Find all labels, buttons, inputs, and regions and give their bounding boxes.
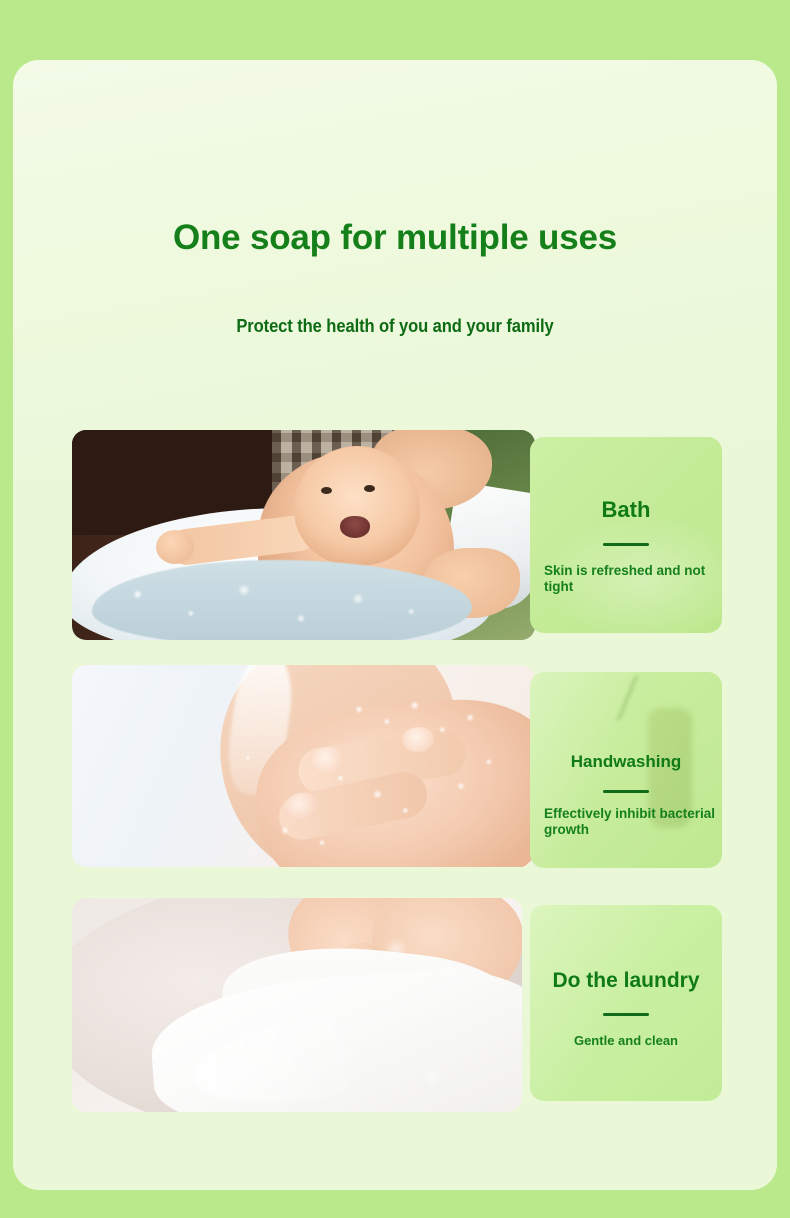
laundry-scene xyxy=(72,898,522,1112)
feature-photo-handwashing xyxy=(72,665,535,867)
baby-head xyxy=(294,446,420,566)
handwashing-scene xyxy=(72,665,535,867)
feature-photo-bath xyxy=(72,430,535,640)
promo-poster: One soap for multiple uses Protect the h… xyxy=(0,0,790,1218)
feature-title-handwashing: Handwashing xyxy=(544,752,708,772)
baby-eye-right xyxy=(364,485,375,492)
feature-divider xyxy=(603,1013,649,1016)
panel-sheen xyxy=(13,60,777,480)
page-subtitle: Protect the health of you and your famil… xyxy=(32,316,759,337)
soap-foam-bubbles xyxy=(72,665,535,867)
feature-photo-laundry xyxy=(72,898,522,1112)
feature-divider xyxy=(603,790,649,793)
baby-mouth xyxy=(340,516,370,538)
bath-scene xyxy=(72,430,535,640)
feature-divider xyxy=(603,543,649,546)
page-title: One soap for multiple uses xyxy=(0,218,790,258)
baby-eye-left xyxy=(321,487,332,494)
feature-title-bath: Bath xyxy=(544,497,708,523)
feature-textpanel-bath: Bath Skin is refreshed and not tight xyxy=(530,437,722,633)
feature-description-laundry: Gentle and clean xyxy=(544,1033,708,1049)
textpanel-inner: Bath Skin is refreshed and not tight xyxy=(530,437,722,633)
feature-row-handwashing: Handwashing Effectively inhibit bacteria… xyxy=(72,665,722,877)
textpanel-inner: Do the laundry Gentle and clean xyxy=(530,905,722,1101)
feature-title-laundry: Do the laundry xyxy=(544,969,708,993)
baby-fist xyxy=(156,530,194,564)
feature-row-bath: Bath Skin is refreshed and not tight xyxy=(72,430,722,642)
textpanel-inner: Handwashing Effectively inhibit bacteria… xyxy=(530,672,722,868)
feature-description-bath: Skin is refreshed and not tight xyxy=(544,563,716,596)
feature-row-laundry: Do the laundry Gentle and clean xyxy=(72,898,722,1114)
feature-textpanel-handwashing: Handwashing Effectively inhibit bacteria… xyxy=(530,672,722,868)
feature-description-handwashing: Effectively inhibit bacterial growth xyxy=(544,806,716,839)
feature-textpanel-laundry: Do the laundry Gentle and clean xyxy=(530,905,722,1101)
